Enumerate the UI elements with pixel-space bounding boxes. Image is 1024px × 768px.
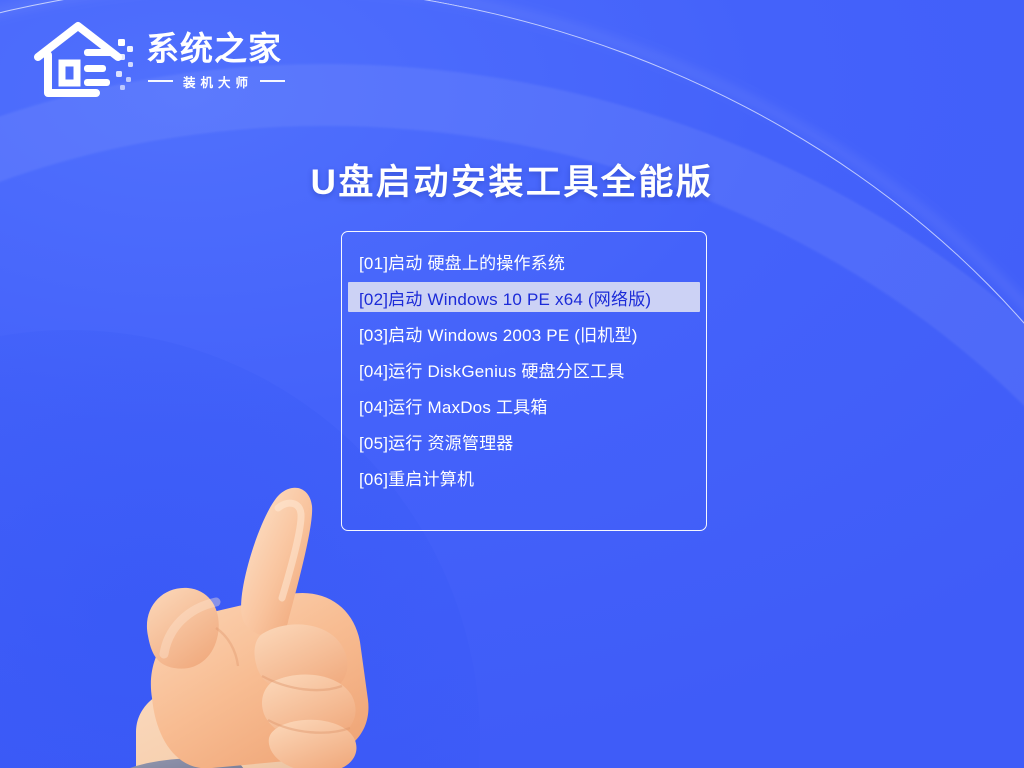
menu-item-01[interactable]: [01]启动 硬盘上的操作系统 xyxy=(348,246,700,276)
brand-subtitle-row: 装机大师 xyxy=(146,72,285,91)
house-pixel-logo-icon xyxy=(34,19,138,101)
boot-menu-screen: 系统之家 装机大师 U盘启动安装工具全能版 [01]启动 硬盘上的操作系统 [0… xyxy=(0,0,1024,768)
subtitle-dash-left xyxy=(148,80,173,82)
menu-item-06[interactable]: [06]重启计算机 xyxy=(348,462,700,492)
boot-menu-panel: [01]启动 硬盘上的操作系统 [02]启动 Windows 10 PE x64… xyxy=(341,231,707,531)
menu-item-05[interactable]: [05]运行 资源管理器 xyxy=(348,426,700,456)
brand-subtitle: 装机大师 xyxy=(180,72,253,91)
menu-item-04-diskgenius[interactable]: [04]运行 DiskGenius 硬盘分区工具 xyxy=(348,354,700,384)
subtitle-dash-right xyxy=(260,80,285,82)
brand-text-group: 系统之家 装机大师 xyxy=(146,29,285,91)
brand-title: 系统之家 xyxy=(146,31,285,67)
menu-item-03[interactable]: [03]启动 Windows 2003 PE (旧机型) xyxy=(348,318,700,348)
brand-logo: 系统之家 装机大师 xyxy=(34,14,304,106)
menu-item-04-maxdos[interactable]: [04]运行 MaxDos 工具箱 xyxy=(348,390,700,420)
page-title: U盘启动安装工具全能版 xyxy=(0,154,1024,205)
menu-item-02[interactable]: [02]启动 Windows 10 PE x64 (网络版) xyxy=(348,282,700,312)
